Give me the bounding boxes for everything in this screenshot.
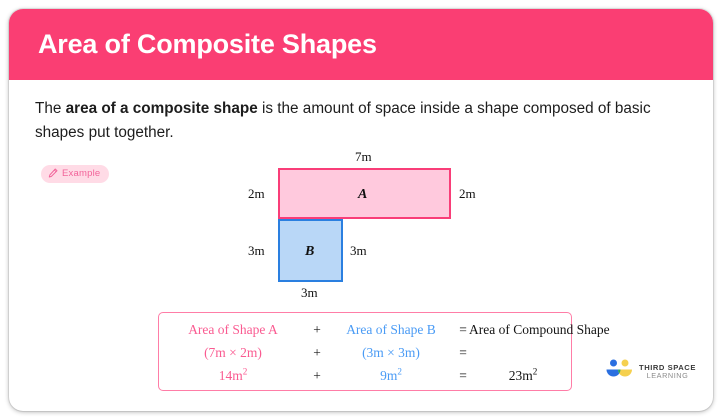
equation-left-term: (7m × 2m) bbox=[163, 343, 303, 363]
equation-plus-operator: + bbox=[303, 320, 331, 340]
page-title: Area of Composite Shapes bbox=[38, 29, 377, 60]
shape-a-top-label: 7m bbox=[355, 149, 372, 165]
shape-b-letter: B bbox=[305, 244, 314, 260]
equation-left-term-exponent: 2 bbox=[243, 367, 248, 377]
equation-row: 14m2 + 9m2 = 23m2 bbox=[159, 366, 573, 388]
equation-plus-operator: + bbox=[303, 366, 331, 386]
equation-equals-operator: = bbox=[451, 366, 475, 386]
lesson-card: Area of Composite Shapes The area of a c… bbox=[9, 9, 713, 411]
logo-line-2: LEARNING bbox=[639, 372, 696, 380]
logo-mark-icon bbox=[606, 359, 633, 386]
shape-b-right-label: 3m bbox=[350, 243, 367, 259]
shape-a-right-label: 2m bbox=[459, 186, 476, 202]
shape-b-bottom-label: 3m bbox=[301, 285, 318, 301]
equation-result: 23m2 bbox=[475, 366, 571, 386]
shape-b-rectangle: B bbox=[278, 219, 343, 282]
equation-equals-operator: = bbox=[451, 343, 475, 363]
equation-box: Area of Shape A + Area of Shape B = Area… bbox=[158, 312, 572, 391]
shape-b-left-label: 3m bbox=[248, 243, 265, 259]
intro-paragraph: The area of a composite shape is the amo… bbox=[35, 97, 695, 145]
shape-a-rectangle: A bbox=[278, 168, 451, 219]
intro-text-bold: area of a composite shape bbox=[66, 100, 258, 117]
equation-left-term: Area of Shape A bbox=[163, 320, 303, 340]
equation-result-text: 23m bbox=[509, 368, 533, 383]
equation-right-term: (3m × 3m) bbox=[331, 343, 451, 363]
pencil-icon bbox=[48, 165, 58, 183]
equation-right-term: 9m2 bbox=[331, 366, 451, 386]
equation-result-exponent: 2 bbox=[533, 367, 538, 377]
card-header: Area of Composite Shapes bbox=[9, 9, 713, 80]
intro-text-before: The bbox=[35, 100, 66, 117]
equation-plus-operator: + bbox=[303, 343, 331, 363]
logo-wordmark: THIRD SPACE LEARNING bbox=[639, 364, 696, 380]
shape-a-left-label: 2m bbox=[248, 186, 265, 202]
equation-left-term: 14m2 bbox=[163, 366, 303, 386]
example-badge: Example bbox=[41, 165, 109, 183]
equation-right-term-exponent: 2 bbox=[397, 367, 402, 377]
equation-right-term: Area of Shape B bbox=[331, 320, 451, 340]
equation-right-term-text: 9m bbox=[380, 368, 397, 383]
equation-left-term-text: 14m bbox=[219, 368, 243, 383]
example-badge-label: Example bbox=[62, 169, 100, 179]
equation-result: Area of Compound Shape bbox=[469, 320, 573, 340]
equation-row: (7m × 2m) + (3m × 3m) = bbox=[159, 343, 573, 365]
equation-row: Area of Shape A + Area of Shape B = Area… bbox=[159, 320, 573, 342]
third-space-learning-logo: THIRD SPACE LEARNING bbox=[606, 357, 704, 387]
shape-a-letter: A bbox=[358, 187, 367, 203]
